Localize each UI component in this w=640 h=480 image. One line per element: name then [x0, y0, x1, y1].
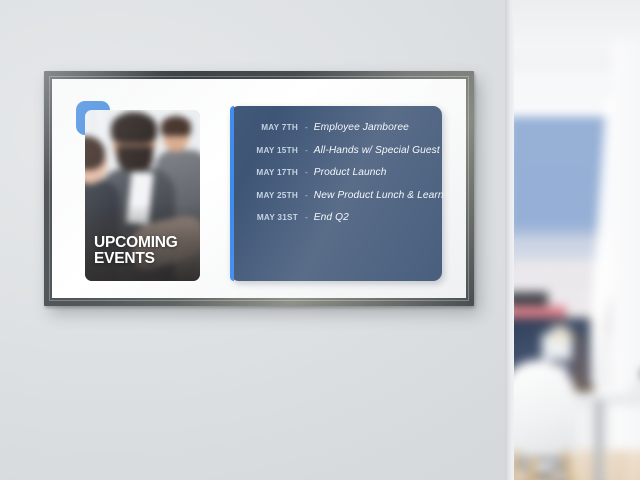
events-slide: UPCOMING EVENTS MAY 7TH - Employee Jambo…	[76, 101, 442, 281]
event-date: MAY 31ST	[242, 213, 298, 222]
event-title: Product Launch	[314, 167, 387, 178]
list-item: MAY 25TH - New Product Lunch & Learn	[242, 190, 432, 201]
event-date: MAY 7TH	[242, 123, 298, 132]
event-separator: -	[298, 123, 314, 132]
slide-heading: UPCOMING EVENTS	[94, 235, 194, 267]
event-separator: -	[298, 213, 314, 222]
event-date: MAY 25TH	[242, 191, 298, 200]
photo-person-3-hair	[161, 116, 191, 136]
desk-leg-right	[595, 400, 603, 480]
list-item: MAY 7TH - Employee Jamboree	[242, 122, 432, 133]
slide-heading-line-2: EVENTS	[94, 251, 194, 267]
team-photo: UPCOMING EVENTS	[85, 110, 200, 281]
photo-person-2-beard	[117, 146, 153, 172]
panel-accent-stripe	[230, 106, 234, 281]
events-panel: MAY 7TH - Employee Jamboree MAY 15TH - A…	[230, 106, 442, 281]
event-date: MAY 17TH	[242, 168, 298, 177]
photo-person-2-hair	[111, 112, 157, 144]
picture-frame: UPCOMING EVENTS MAY 7TH - Employee Jambo…	[44, 71, 474, 306]
event-date: MAY 15TH	[242, 146, 298, 155]
event-title: End Q2	[314, 212, 349, 223]
wall-corner-edge	[505, 0, 514, 480]
event-title: New Product Lunch & Learn	[314, 190, 444, 201]
event-separator: -	[298, 168, 314, 177]
event-separator: -	[298, 191, 314, 200]
slide-heading-line-1: UPCOMING	[94, 235, 194, 251]
frame-mat: UPCOMING EVENTS MAY 7TH - Employee Jambo…	[52, 79, 466, 298]
office-background	[512, 0, 640, 480]
event-title: All-Hands w/ Special Guest	[314, 145, 440, 156]
list-item: MAY 31ST - End Q2	[242, 212, 432, 223]
event-separator: -	[298, 146, 314, 155]
list-item: MAY 17TH - Product Launch	[242, 167, 432, 178]
dark-sign	[512, 292, 548, 306]
screenshot-scene: UPCOMING EVENTS MAY 7TH - Employee Jambo…	[0, 0, 640, 480]
list-item: MAY 15TH - All-Hands w/ Special Guest	[242, 145, 432, 156]
event-title: Employee Jamboree	[314, 122, 409, 133]
lamp-stem	[578, 336, 582, 388]
desk-extension	[630, 378, 640, 392]
events-list: MAY 7TH - Employee Jamboree MAY 15TH - A…	[242, 122, 432, 235]
desk-lamp-icon	[552, 328, 568, 342]
